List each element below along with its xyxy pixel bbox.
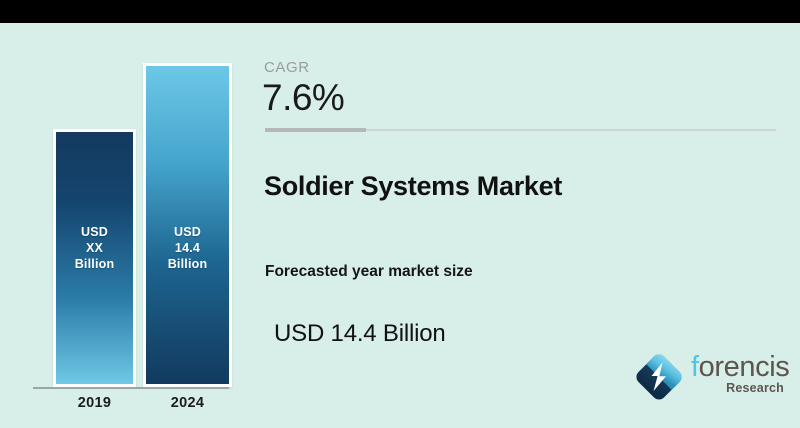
x-axis-tick-2024: 2024 bbox=[143, 395, 232, 411]
bar-2019-value-label: USD XX Billion bbox=[56, 224, 133, 272]
top-black-band bbox=[0, 0, 800, 23]
x-axis-line bbox=[33, 387, 229, 389]
bar-2019-line-1: USD bbox=[56, 224, 133, 240]
page-title: Soldier Systems Market bbox=[264, 171, 562, 202]
x-axis-tick-2019: 2019 bbox=[53, 395, 136, 411]
bar-2019-line-3: Billion bbox=[56, 256, 133, 272]
logo-subtitle: Research bbox=[726, 381, 784, 395]
bar-2019-line-2: XX bbox=[56, 240, 133, 256]
market-infographic: USD XX Billion USD 14.4 Billion 2019 202… bbox=[0, 0, 800, 428]
bar-2024-line-3: Billion bbox=[146, 256, 229, 272]
logo-name-initial: f bbox=[691, 351, 699, 383]
forencis-research-logo: forencis Research bbox=[631, 347, 786, 409]
bar-2024-line-2: 14.4 bbox=[146, 240, 229, 256]
bar-2019: USD XX Billion bbox=[53, 129, 136, 387]
section-divider bbox=[265, 129, 776, 131]
forencis-wordmark: forencis Research bbox=[691, 351, 786, 405]
logo-name-rest: orencis bbox=[699, 351, 790, 383]
forencis-diamond-bolt-icon bbox=[631, 349, 687, 405]
bar-2024-value-label: USD 14.4 Billion bbox=[146, 224, 229, 272]
cagr-value: 7.6% bbox=[262, 76, 344, 120]
bar-chart: USD XX Billion USD 14.4 Billion 2019 202… bbox=[0, 23, 250, 428]
cagr-label: CAGR bbox=[264, 59, 310, 76]
bar-2024: USD 14.4 Billion bbox=[143, 63, 232, 387]
forecast-value: USD 14.4 Billion bbox=[274, 320, 446, 348]
logo-name: forencis bbox=[691, 351, 789, 383]
forecast-label: Forecasted year market size bbox=[265, 263, 473, 281]
bar-2024-line-1: USD bbox=[146, 224, 229, 240]
